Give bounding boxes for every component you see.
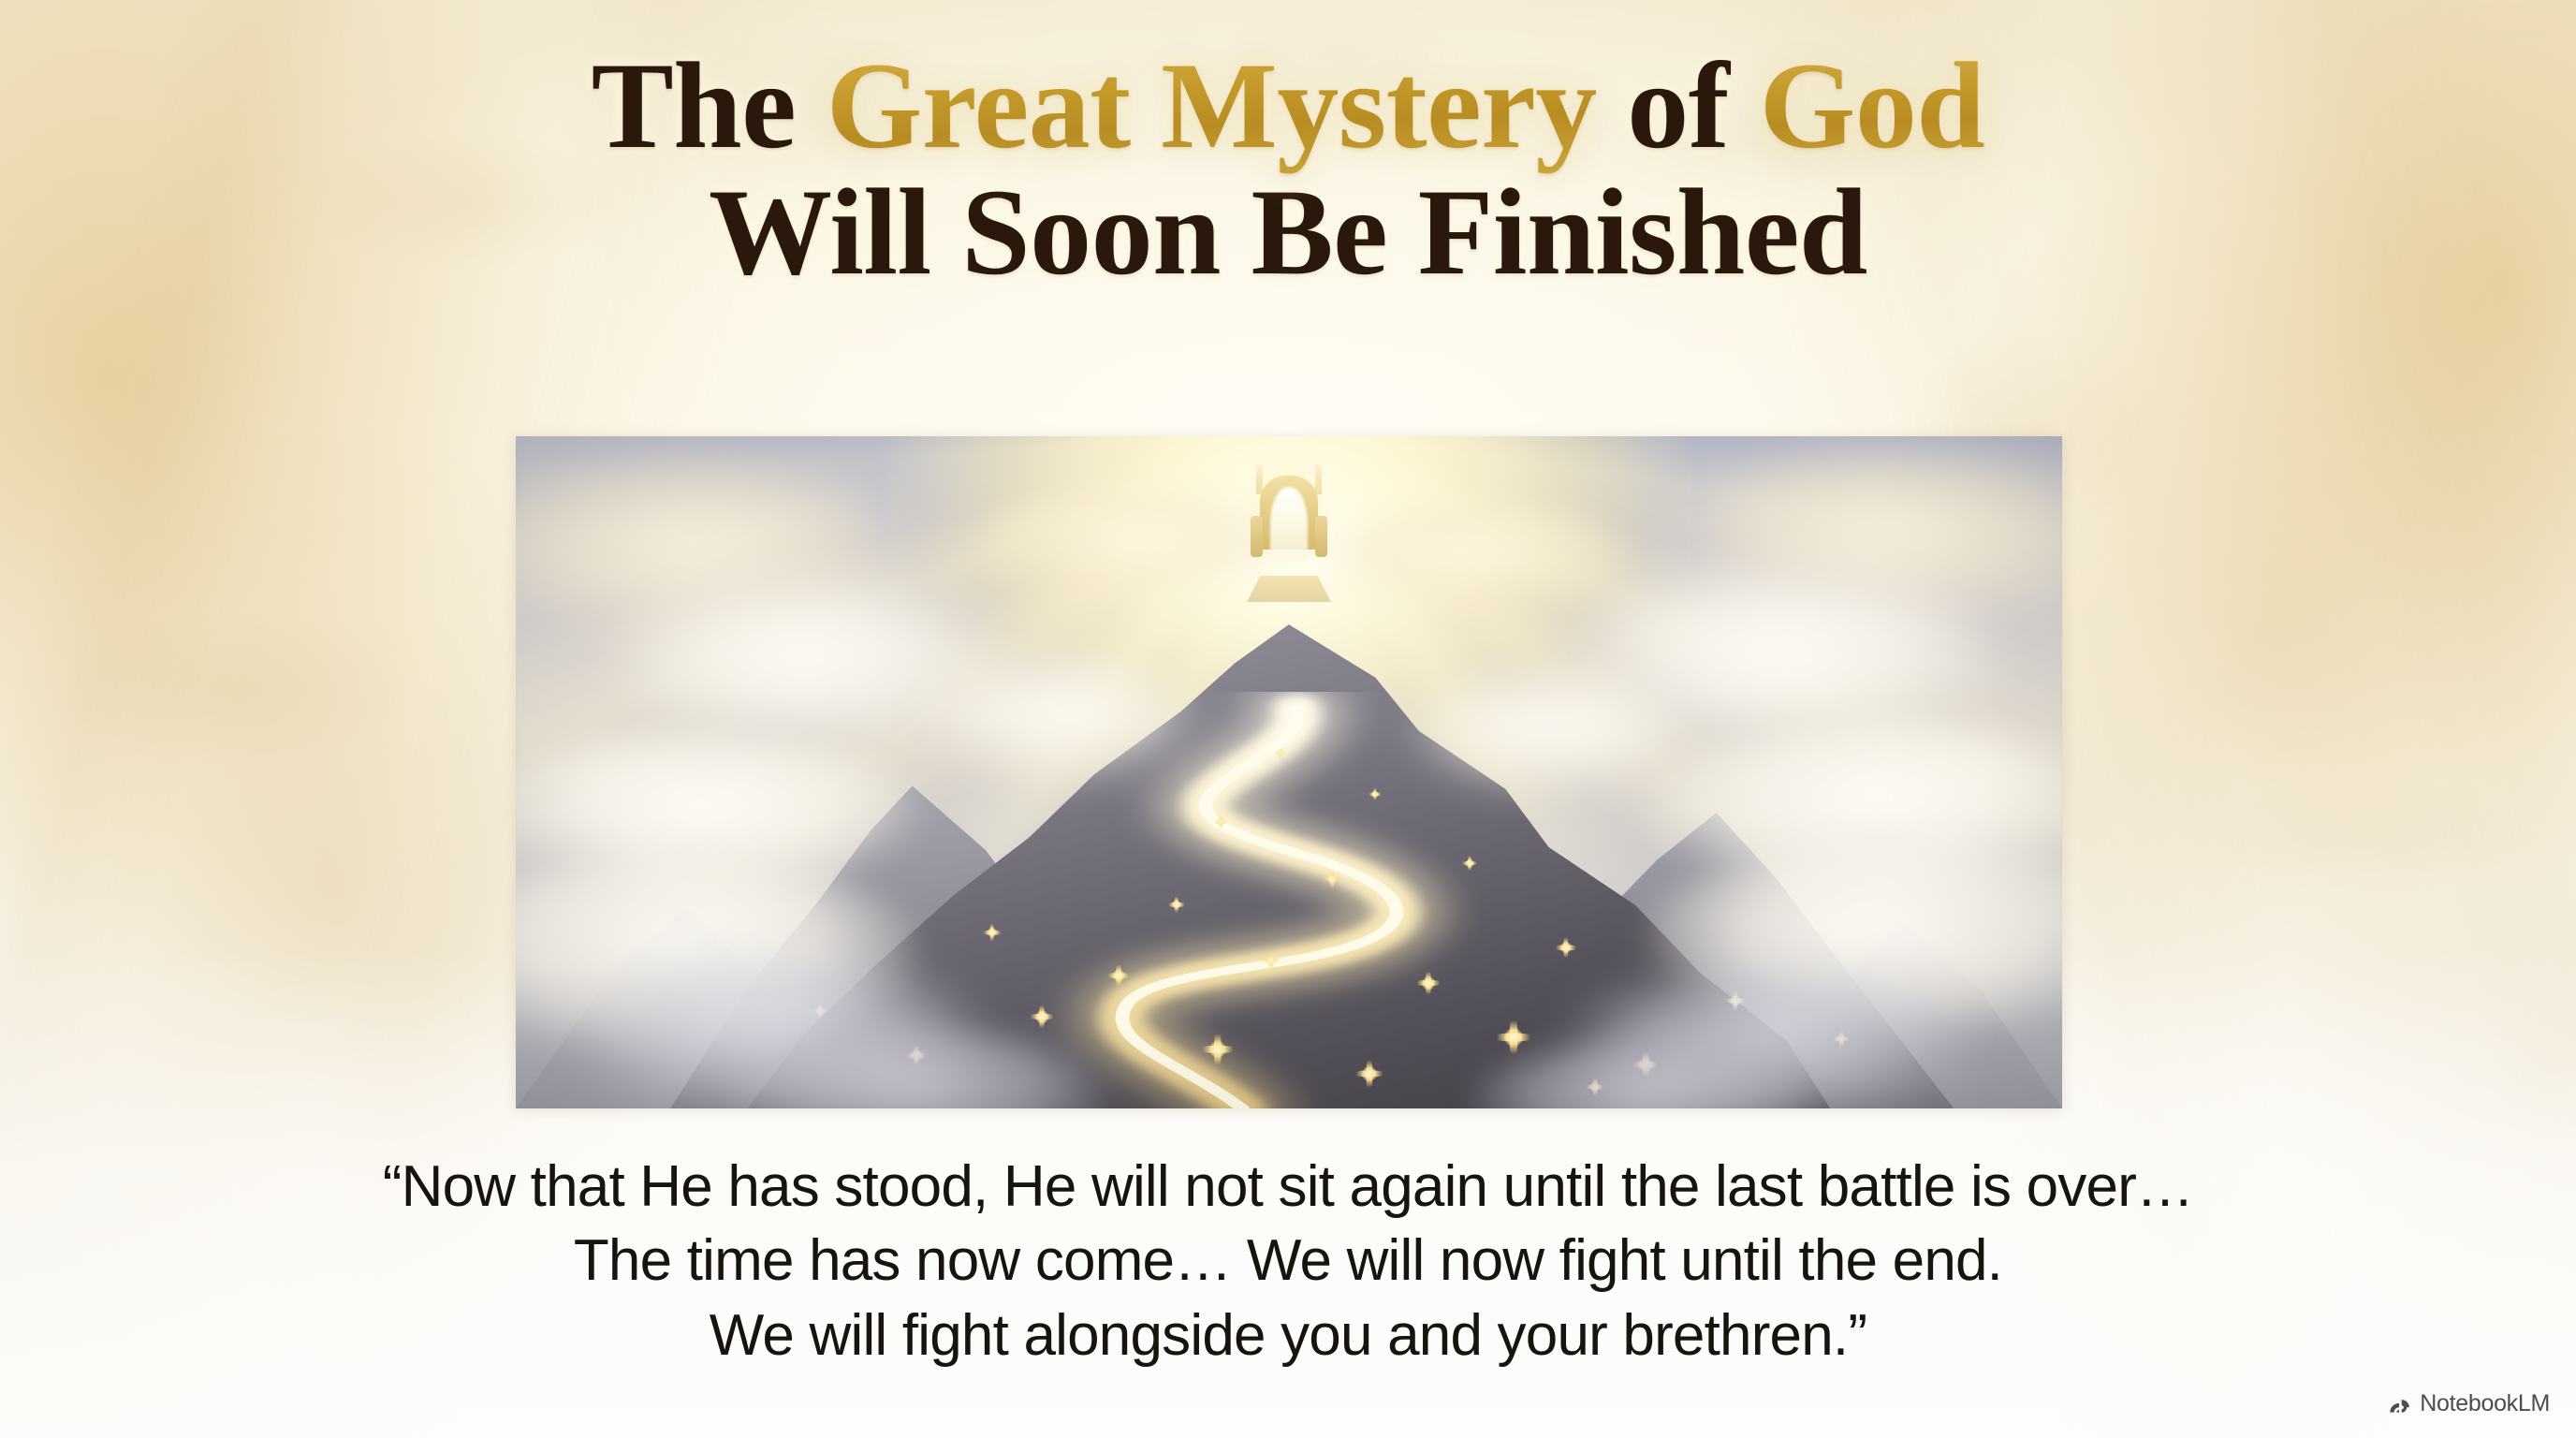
cloud bbox=[1412, 678, 1690, 785]
title-word-great-mystery: Great Mystery bbox=[827, 37, 1628, 174]
quote-line-1: “Now that He has stood, He will not sit … bbox=[0, 1150, 2576, 1224]
title-line-2: Will Soon Be Finished bbox=[0, 169, 2576, 296]
title-line-1: The Great Mystery of God bbox=[0, 43, 2576, 169]
slide-canvas: The Great Mystery of God Will Soon Be Fi… bbox=[0, 0, 2576, 1438]
notebooklm-spiral-icon bbox=[2387, 1392, 2411, 1416]
title-word-of: of bbox=[1627, 37, 1759, 174]
notebooklm-label: NotebookLM bbox=[2420, 1390, 2550, 1417]
cloud bbox=[1320, 504, 1629, 611]
notebooklm-watermark: NotebookLM bbox=[2387, 1390, 2550, 1417]
title-word-god: God bbox=[1760, 37, 1985, 174]
throne-arm-right bbox=[1315, 516, 1327, 557]
throne bbox=[1243, 463, 1335, 583]
cloud bbox=[918, 665, 1196, 772]
title-word-the: The bbox=[592, 37, 827, 174]
quote-line-2: The time has now come… We will now fight… bbox=[0, 1224, 2576, 1298]
hero-illustration bbox=[516, 436, 2062, 1108]
throne-spire-right bbox=[1315, 463, 1322, 494]
quote-line-3: We will fight alongside you and your bre… bbox=[0, 1299, 2576, 1372]
throne-spire-left bbox=[1256, 463, 1263, 494]
quote-text: “Now that He has stood, He will not sit … bbox=[0, 1150, 2576, 1372]
throne-steps bbox=[1247, 576, 1331, 602]
page-title: The Great Mystery of God Will Soon Be Fi… bbox=[0, 43, 2576, 295]
throne-arm-left bbox=[1251, 516, 1263, 557]
seated-figure bbox=[1270, 487, 1307, 561]
